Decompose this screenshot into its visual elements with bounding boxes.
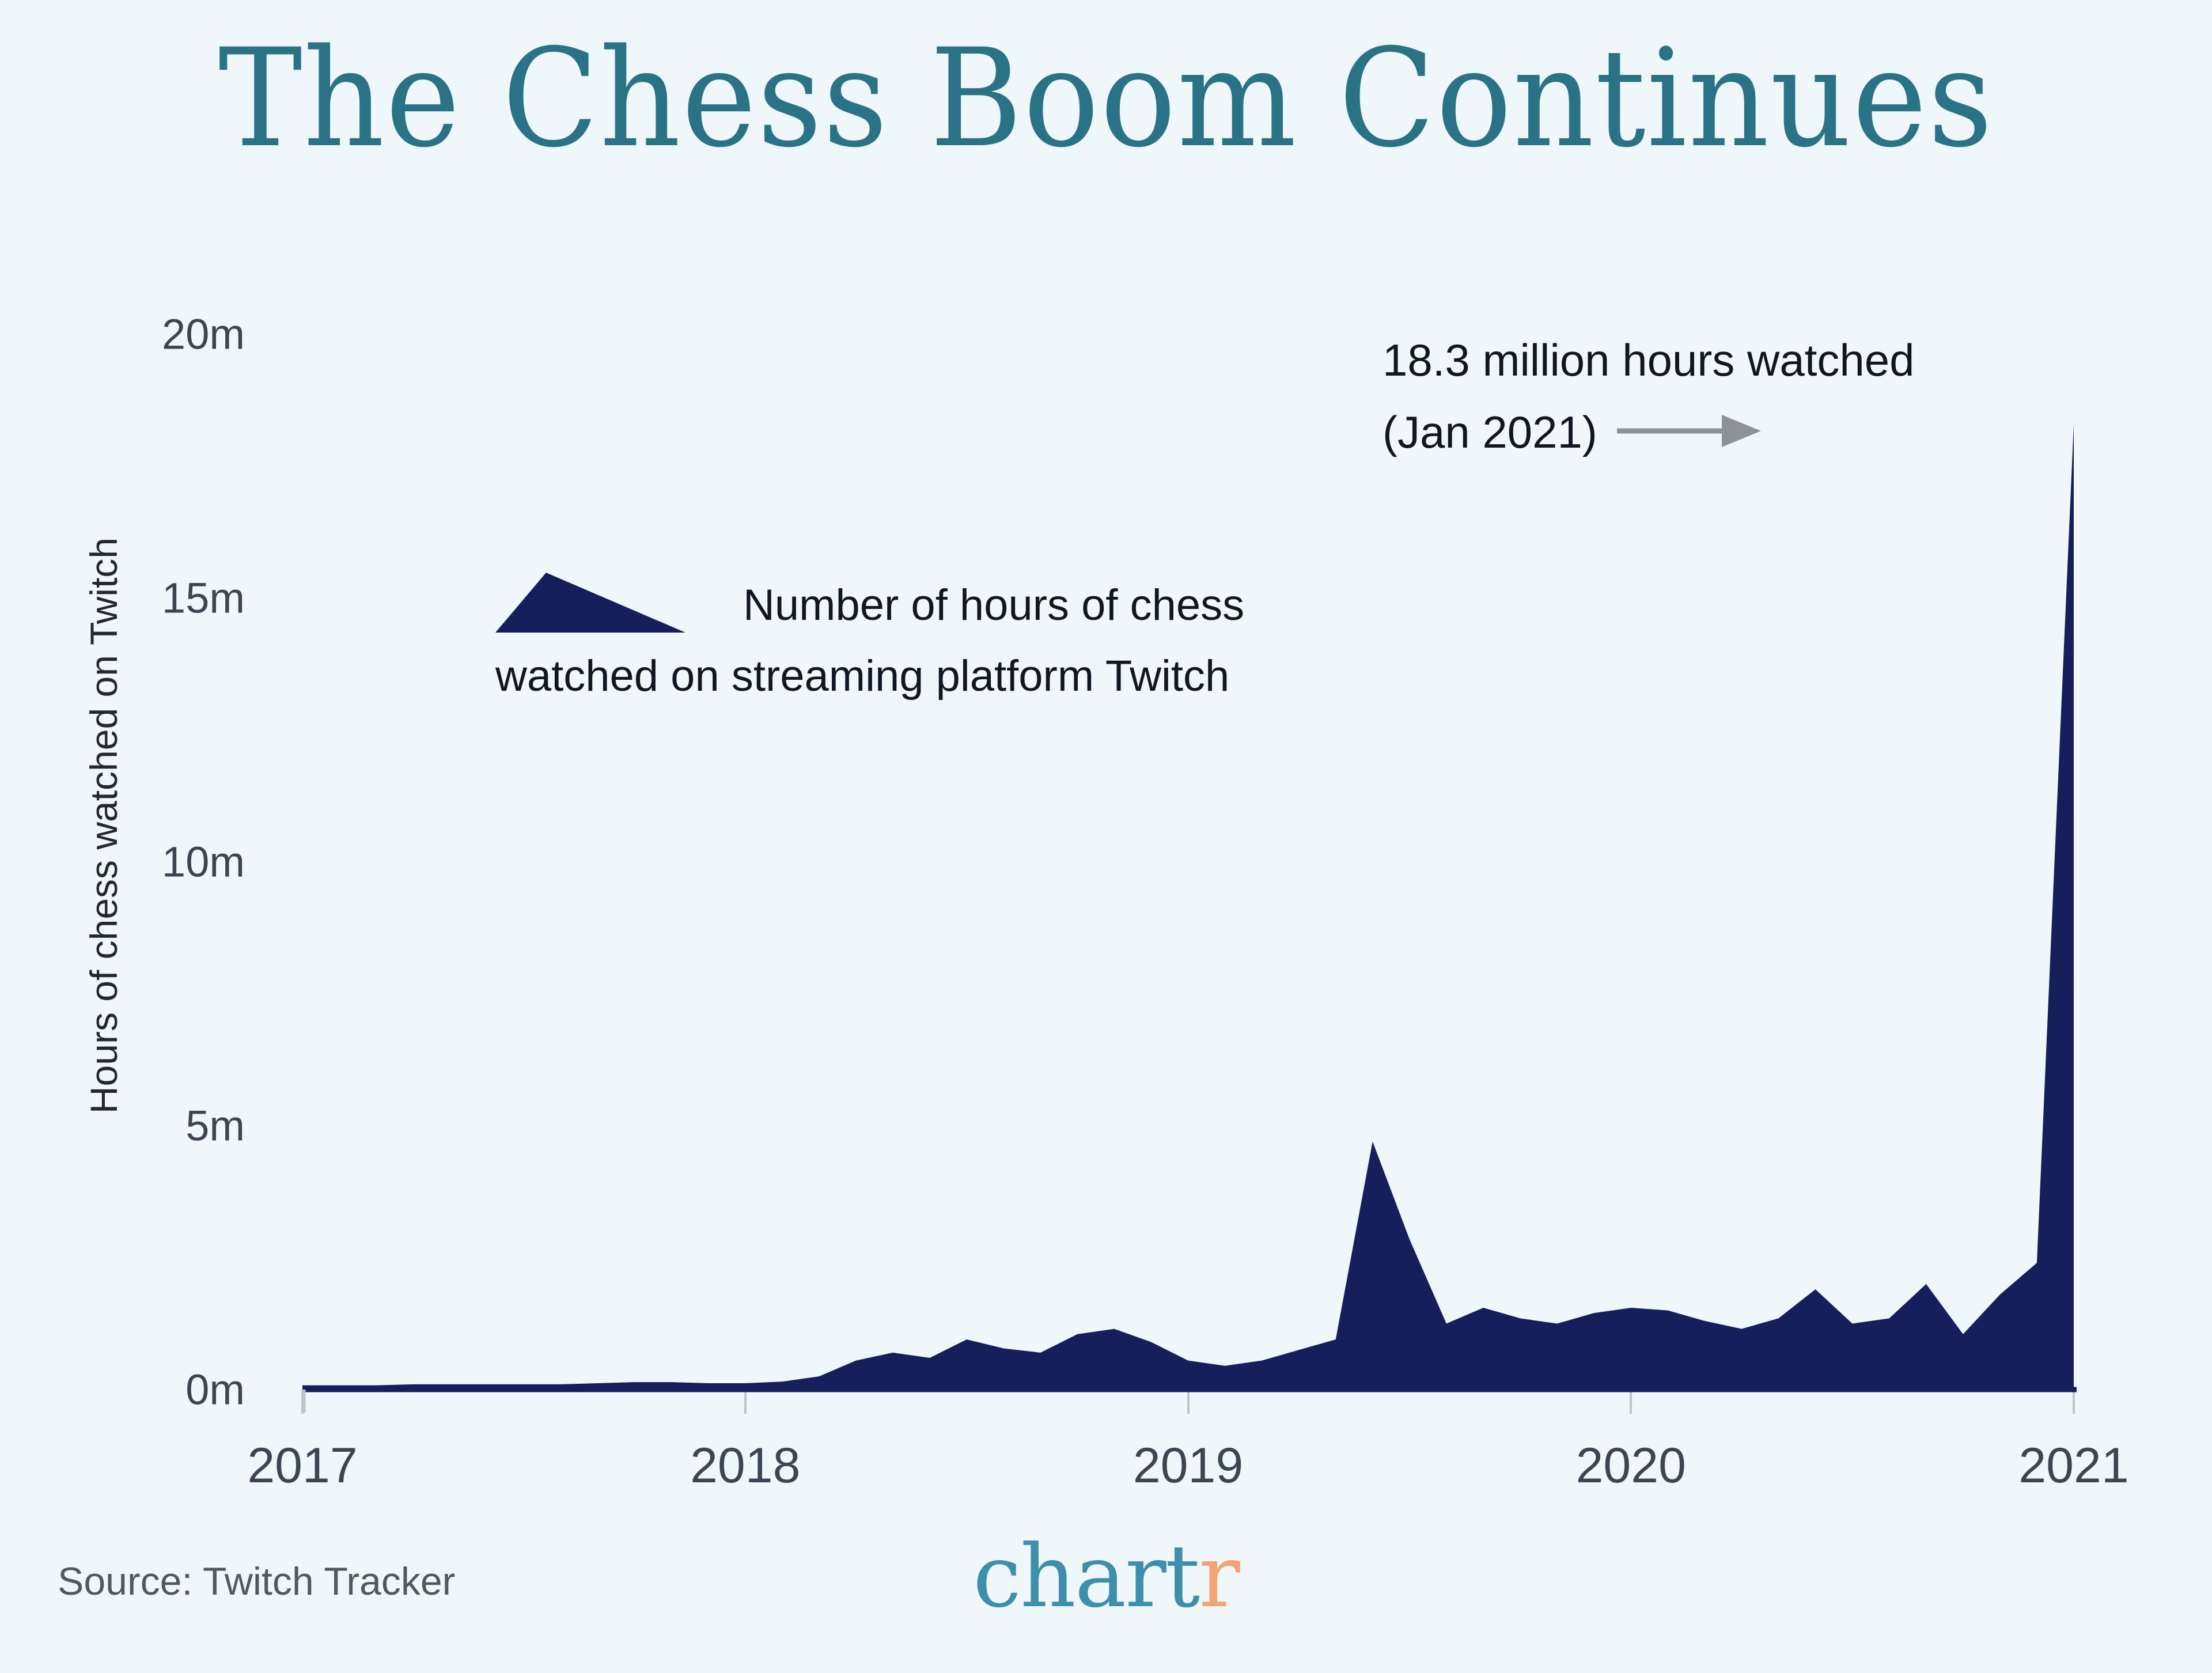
annotation-date-text: (Jan 2021): [1382, 406, 1597, 459]
legend-label-line-2: watched on streaming platform Twitch: [495, 651, 1371, 701]
chartr-logo-r: r: [1199, 1527, 1239, 1627]
annotation-value-text: 18.3 million hours watched: [1382, 334, 2074, 387]
legend-label-line-1: Number of hours of chess: [743, 580, 1244, 634]
callout-annotation: 18.3 million hours watched (Jan 2021): [1382, 334, 2074, 459]
arrow-right-icon: [1617, 408, 1761, 457]
chart-page: The Chess Boom Continues Hours of chess …: [0, 0, 2212, 1673]
series-area-chess-hours: [302, 424, 2074, 1390]
chartr-logo-chart: chart: [973, 1527, 1199, 1627]
legend: Number of hours of chess watched on stre…: [495, 570, 1371, 701]
chartr-logo: chartr: [0, 1527, 2212, 1627]
area-triangle-swatch-icon: [495, 570, 685, 634]
area-chart-plot: [0, 0, 2212, 1673]
